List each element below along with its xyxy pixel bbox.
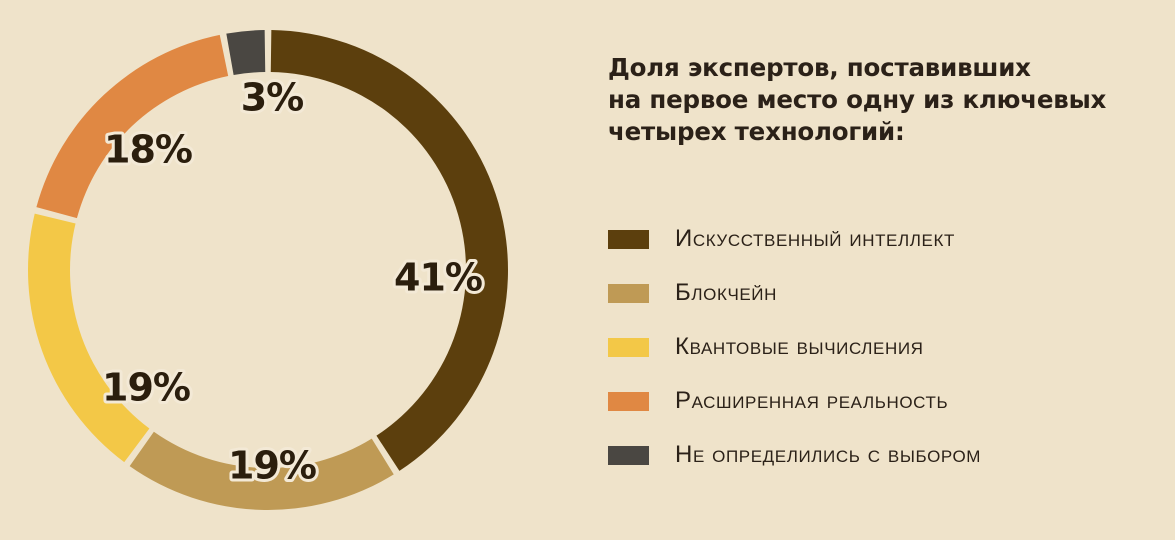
legend-item[interactable]: Блокчейн [608,266,1168,320]
legend-item[interactable]: Искусственный интеллект [608,212,1168,266]
slice-value-label: 19% [228,444,316,488]
donut-slice[interactable] [28,214,149,463]
legend-color-swatch [608,392,649,411]
legend-item[interactable]: Квантовые вычисления [608,320,1168,374]
slice-value-label: 41% [394,256,482,300]
chart-info-panel: Доля экспертов, поставивших на первое ме… [608,0,1175,540]
slice-value-label: 3% [241,76,304,120]
legend-item-label: Квантовые вычисления [675,333,924,361]
donut-slice[interactable] [271,30,508,471]
legend-item-label: Искусственный интеллект [675,225,955,253]
donut-slice[interactable] [226,30,265,75]
legend-item[interactable]: Расширенная реальность [608,374,1168,428]
legend-item-label: Расширенная реальность [675,387,948,415]
legend-item-label: Не определились с выбором [675,441,981,469]
chart-title-line-3: четырех технологий: [608,116,1168,148]
donut-chart: 41%19%19%18%3% [0,0,580,540]
slice-value-label: 19% [102,366,190,410]
slice-value-label: 18% [104,128,192,172]
legend-color-swatch [608,230,649,249]
chart-legend: Искусственный интеллектБлокчейнКвантовые… [608,212,1168,482]
chart-title: Доля экспертов, поставивших на первое ме… [608,52,1168,148]
legend-item[interactable]: Не определились с выбором [608,428,1168,482]
infographic-canvas: 41%19%19%18%3% Доля экспертов, поставивш… [0,0,1175,540]
legend-color-swatch [608,284,649,303]
donut-chart-svg: 41%19%19%18%3% [0,0,580,540]
legend-color-swatch [608,446,649,465]
legend-item-label: Блокчейн [675,279,777,307]
donut-slice[interactable] [36,35,228,218]
chart-title-line-2: на первое место одну из ключевых [608,84,1168,116]
legend-color-swatch [608,338,649,357]
chart-title-line-1: Доля экспертов, поставивших [608,52,1168,84]
